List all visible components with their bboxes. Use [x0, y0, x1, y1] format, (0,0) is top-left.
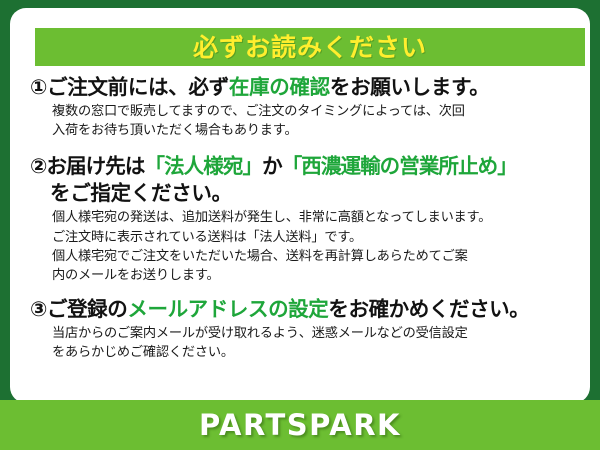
item-marker-3: ③ [30, 297, 47, 321]
header-band: 必ずお読みください [35, 28, 585, 66]
notice-item-1: ①ご注文前には、必ず在庫の確認をお願いします。 複数の窓口で販売してますので、ご… [30, 74, 592, 140]
item-2-text-part-0: お届け先は [46, 154, 144, 178]
item-2-text-part-2: か [262, 154, 282, 178]
item-2-body-line-3: 個人様宅宛でご注文をいただいた場合、送料を再計算しあらためてご案 [52, 247, 592, 266]
item-1-text-part-2: をお願いします。 [330, 75, 490, 99]
item-spacer-2 [30, 287, 592, 296]
item-1-highlight: 在庫の確認 [229, 75, 330, 99]
notice-item-3-heading: ③ご登録のメールアドレスの設定をお確かめください。 [30, 296, 592, 323]
item-1-text-part-0: ご注文前には、必ず [47, 75, 229, 99]
notice-item-2-heading-continuation: をご指定ください。 [30, 180, 592, 207]
page-title: 必ずお読みください [193, 35, 427, 60]
item-3-highlight: メールアドレスの設定 [127, 297, 328, 321]
item-2-body-line-4: 内のメールをお送りします。 [52, 266, 592, 285]
item-1-body-line-2: 入荷をお待ち頂いただく場合もあります。 [52, 121, 592, 140]
notice-item-3-body: 当店からのご案内メールが受け取れるよう、迷惑メールなどの受信設定 をあらかじめご… [30, 324, 592, 362]
item-marker-2: ② [30, 154, 46, 178]
inner-panel: 必ずお読みください ①ご注文前には、必ず在庫の確認をお願いします。 複数の窓口で… [10, 8, 590, 403]
notice-item-1-body: 複数の窓口で販売してますので、ご注文のタイミングによっては、次回 入荷をお待ち頂… [30, 102, 592, 140]
notice-item-2-heading: ②お届け先は「法人様宛」か「西濃運輸の営業所止め」 [30, 153, 592, 180]
notice-items: ①ご注文前には、必ず在庫の確認をお願いします。 複数の窓口で販売してますので、ご… [30, 74, 592, 364]
item-2-highlight-2: 「西濃運輸の営業所止め」 [282, 154, 517, 178]
item-2-body-line-2: ご注文時に表示されている送料は「法人送料」です。 [52, 228, 592, 247]
item-marker-1: ① [30, 75, 47, 99]
brand-logo: PARTSPARK [199, 411, 401, 440]
item-2-body-line-1: 個人様宅宛の発送は、追加送料が発生し、非常に高額となってしまいます。 [52, 208, 592, 227]
item-2-highlight-1: 「法人様宛」 [144, 154, 262, 178]
notice-card: 必ずお読みください ①ご注文前には、必ず在庫の確認をお願いします。 複数の窓口で… [0, 0, 600, 450]
notice-item-3: ③ご登録のメールアドレスの設定をお確かめください。 当店からのご案内メールが受け… [30, 296, 592, 362]
item-1-body-line-1: 複数の窓口で販売してますので、ご注文のタイミングによっては、次回 [52, 102, 592, 121]
item-3-text-part-2: をお確かめください。 [328, 297, 529, 321]
footer-band: PARTSPARK [0, 400, 600, 450]
notice-item-1-heading: ①ご注文前には、必ず在庫の確認をお願いします。 [30, 74, 592, 101]
item-3-text-part-0: ご登録の [47, 297, 127, 321]
notice-item-2-body: 個人様宅宛の発送は、追加送料が発生し、非常に高額となってしまいます。 ご注文時に… [30, 208, 592, 285]
item-3-body-line-2: をあらかじめご確認ください。 [52, 343, 592, 362]
notice-item-2: ②お届け先は「法人様宛」か「西濃運輸の営業所止め」 をご指定ください。 個人様宅… [30, 153, 592, 285]
item-spacer-1 [30, 142, 592, 153]
item-3-body-line-1: 当店からのご案内メールが受け取れるよう、迷惑メールなどの受信設定 [52, 324, 592, 343]
